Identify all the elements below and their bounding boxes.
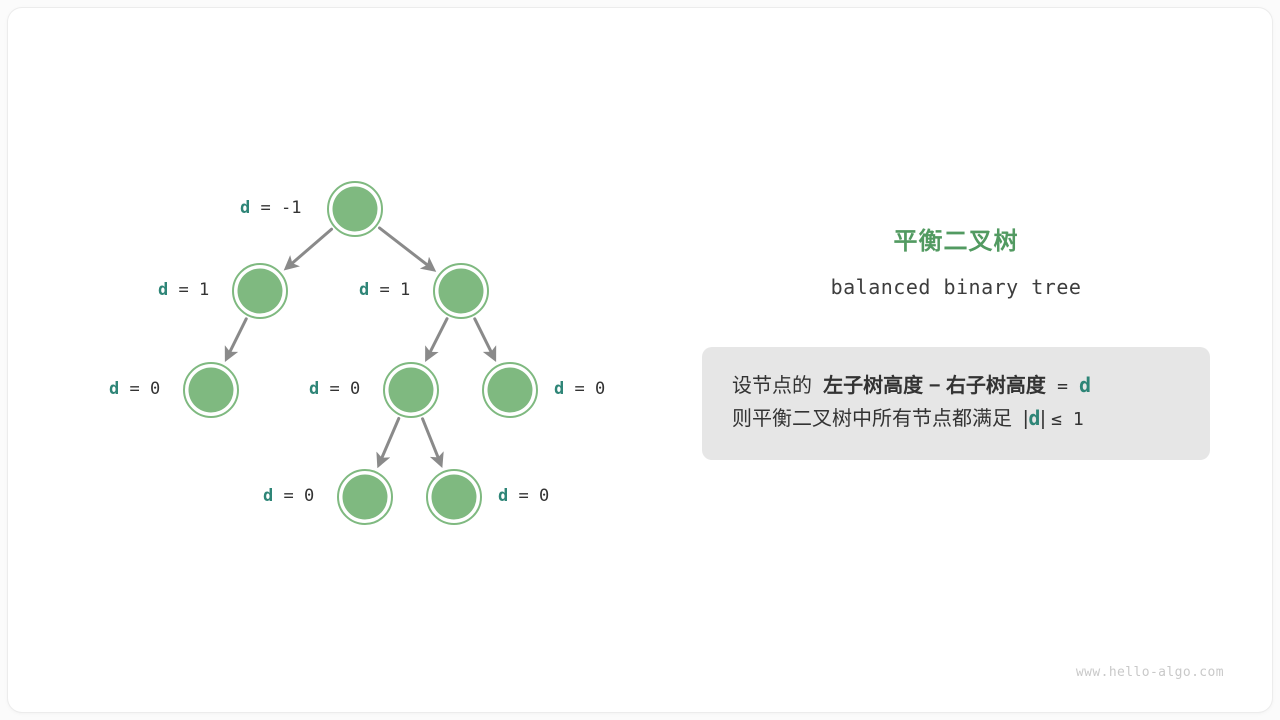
node-balance-label: d = 1 [359,282,410,299]
tree-edge [428,319,447,357]
node-balance-label: d = 0 [554,381,605,398]
tree-node [384,363,438,417]
node-balance-label: d = 0 [109,381,160,398]
node-fill [189,368,234,413]
note-line2-comparison: ≤ 1 [1051,409,1084,430]
tree-edges [227,228,493,463]
tree-edge [380,418,399,463]
balance-variable: d [158,280,168,300]
tree-edge [423,419,441,463]
watermark-url: www.hello-algo.com [1076,665,1224,680]
note-line1-prefix: 设节点的 [732,375,812,397]
tree-node [434,264,488,318]
node-fill [333,187,378,232]
node-balance-label: d = 1 [158,282,209,299]
tree-edge [227,319,246,357]
tree-node [427,470,481,524]
tree-diagram: d = -1d = 1d = 1d = 0d = 0d = 0d = 0d = … [8,8,668,712]
node-fill [389,368,434,413]
tree-node [184,363,238,417]
balance-value: = 0 [319,379,360,399]
note-line2-variable: d [1028,406,1040,430]
balance-variable: d [498,486,508,506]
node-fill [238,269,283,314]
balance-variable: d [359,280,369,300]
tree-graph-svg [68,148,668,568]
balance-value: = 0 [273,486,314,506]
balance-value: = 0 [119,379,160,399]
node-balance-label: d = 0 [309,381,360,398]
balance-value: = 1 [168,280,209,300]
balance-variable: d [109,379,119,399]
node-fill [488,368,533,413]
balance-value: = 1 [369,280,410,300]
definition-note-box: 设节点的 左子树高度 − 右子树高度 = d 则平衡二叉树中所有节点都满足 |d… [702,347,1210,460]
definition-line-1: 设节点的 左子树高度 − 右子树高度 = d [732,369,1184,402]
node-fill [432,475,477,520]
page-background: d = -1d = 1d = 1d = 0d = 0d = 0d = 0d = … [0,0,1280,720]
definition-line-2: 则平衡二叉树中所有节点都满足 |d| ≤ 1 [732,402,1184,435]
balance-variable: d [263,486,273,506]
tree-nodes [184,182,537,524]
node-fill [439,269,484,314]
node-balance-label: d = -1 [240,200,301,217]
node-balance-label: d = 0 [498,488,549,505]
balance-value: = -1 [250,198,301,218]
node-balance-label: d = 0 [263,488,314,505]
balance-variable: d [309,379,319,399]
tree-edge [475,319,494,357]
tree-node [233,264,287,318]
balance-value: = 0 [508,486,549,506]
node-fill [343,475,388,520]
tree-node [483,363,537,417]
note-line1-left-term: 左子树高度 [823,375,923,397]
info-panel: 平衡二叉树 balanced binary tree 设节点的 左子树高度 − … [702,228,1210,460]
content-card: d = -1d = 1d = 1d = 0d = 0d = 0d = 0d = … [8,8,1272,712]
note-line1-right-term: 右子树高度 [946,375,1046,397]
balance-variable: d [240,198,250,218]
tree-node [338,470,392,524]
tree-node [328,182,382,236]
balance-variable: d [554,379,564,399]
balance-value: = 0 [564,379,605,399]
tree-edge [288,229,332,267]
note-line2-prefix: 则平衡二叉树中所有节点都满足 [732,408,1012,430]
minus-operator: − [929,375,941,397]
note-line1-variable: d [1079,373,1091,397]
equals-operator: = [1057,376,1068,397]
panel-subtitle: balanced binary tree [702,275,1210,299]
tree-edge [380,228,432,268]
panel-title: 平衡二叉树 [702,228,1210,257]
